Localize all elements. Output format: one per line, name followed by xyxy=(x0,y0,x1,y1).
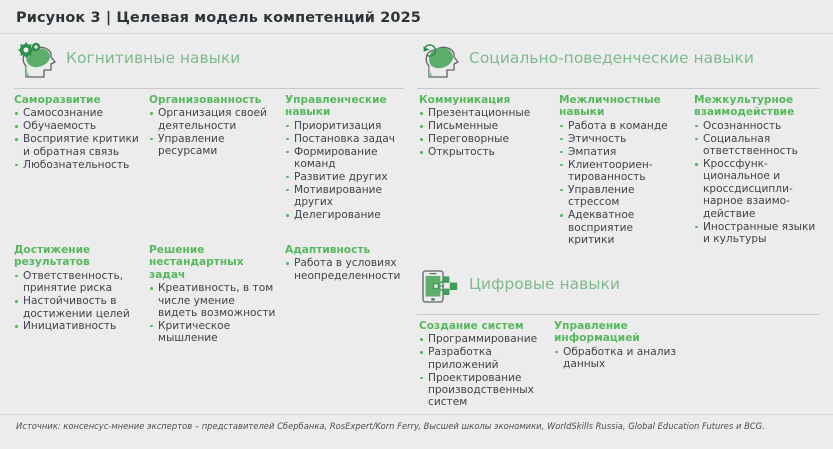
list-item: Настойчивость в достижении целей xyxy=(14,295,142,320)
column-list: Самосознание Обучаемость Восприятие крит… xyxy=(14,107,142,171)
block-divider-digital xyxy=(417,314,819,315)
column-mezhkulturnoe-vzaimodeystvie: Межкультурное взаимодействие Осознанност… xyxy=(694,94,820,246)
list-item: Критическое мышление xyxy=(149,320,277,345)
source-note: Источник: консенсус-мнение экспертов – п… xyxy=(16,421,765,431)
figure-canvas: Рисунок 3 | Целевая модель компетенций 2… xyxy=(0,0,833,449)
list-item: Управление ресурсами xyxy=(149,133,277,158)
column-list: Организация своей деятельности Управлени… xyxy=(149,107,277,157)
column-list: Приоритизация Постановка задач Формирова… xyxy=(285,120,403,222)
column-adaptivnost: Адаптивность Работа в условиях неопредел… xyxy=(285,244,403,283)
column-title: Адаптивность xyxy=(285,244,403,256)
list-item: Инициативность xyxy=(14,320,142,332)
footer-divider xyxy=(0,414,833,415)
column-title: Управленческие навыки xyxy=(285,94,403,119)
column-list: Осознанность Социальная ответственность … xyxy=(694,120,820,246)
list-item: Разработка приложений xyxy=(419,346,547,371)
list-item: Программирование xyxy=(419,333,547,345)
list-item: Развитие других xyxy=(285,171,403,183)
title-divider xyxy=(0,33,833,34)
column-list: Программирование Разработка приложений П… xyxy=(419,333,547,408)
list-item: Мотивирование других xyxy=(285,184,403,209)
list-item: Обработка и анализ данных xyxy=(554,346,676,371)
column-list: Работа в условиях неопределенности xyxy=(285,257,403,282)
list-item: Любознательность xyxy=(14,159,142,171)
column-list: Презентационные Письменные Переговорные … xyxy=(419,107,547,158)
column-list: Работа в команде Этичность Эмпатия Клиен… xyxy=(559,120,681,247)
list-item: Осознанность xyxy=(694,120,820,132)
list-item: Обучаемость xyxy=(14,120,142,132)
column-title: Достижение результатов xyxy=(14,244,142,269)
smartphone-network-icon xyxy=(417,266,463,306)
block-heading-label: Когнитивные навыки xyxy=(66,49,240,67)
column-reshenie-nestandartnyh-zadach: Решение нестандартных задач Креативность… xyxy=(149,244,277,345)
list-item: Социальная ответственность xyxy=(694,133,820,158)
list-item: Проектирование производственных систем xyxy=(419,372,547,409)
column-dostizhenie-rezultatov: Достижение результатов Ответственность, … xyxy=(14,244,142,333)
list-item: Ответственность, принятие риска xyxy=(14,270,142,295)
column-title: Решение нестандартных задач xyxy=(149,244,277,281)
column-list: Креативность, в том числе умение видеть … xyxy=(149,282,277,345)
column-upravlenie-informaciey: Управление информацией Обработка и анали… xyxy=(554,320,676,371)
column-mezhlichnostnye-navyki: Межличностные навыки Работа в команде Эт… xyxy=(559,94,681,247)
list-item: Креативность, в том числе умение видеть … xyxy=(149,282,277,319)
list-item: Формирование команд xyxy=(285,146,403,171)
block-heading-label: Цифровые навыки xyxy=(469,275,620,293)
list-item: Делегирование xyxy=(285,209,403,221)
block-header-social: Социально-поведенческие навыки xyxy=(417,40,819,82)
list-item: Иностранные языки и культуры xyxy=(694,221,820,246)
column-title: Управление информацией xyxy=(554,320,676,345)
column-title: Создание систем xyxy=(419,320,547,332)
block-divider-cognitive xyxy=(14,88,404,89)
column-samorazvitie: Саморазвитие Самосознание Обучаемость Во… xyxy=(14,94,142,171)
list-item: Презентационные xyxy=(419,107,547,119)
head-with-arrows-icon xyxy=(417,40,463,80)
list-item: Этичность xyxy=(559,133,681,145)
column-title: Организованность xyxy=(149,94,277,106)
list-item: Приоритизация xyxy=(285,120,403,132)
list-item: Адекватное восприятие критики xyxy=(559,209,681,246)
list-item: Работа в команде xyxy=(559,120,681,132)
column-title: Межкультурное взаимодействие xyxy=(694,94,820,119)
block-header-cognitive: Когнитивные навыки xyxy=(14,40,404,82)
list-item: Постановка задач xyxy=(285,133,403,145)
list-item: Письменные xyxy=(419,120,547,132)
column-title: Коммуникация xyxy=(419,94,547,106)
column-list: Ответственность, принятие риска Настойчи… xyxy=(14,270,142,333)
list-item: Клиентоориен-тированность xyxy=(559,159,681,184)
list-item: Самосознание xyxy=(14,107,142,119)
list-item: Управление стрессом xyxy=(559,184,681,209)
block-divider-social xyxy=(417,88,819,89)
column-kommunikaciya: Коммуникация Презентационные Письменные … xyxy=(419,94,547,159)
column-title: Саморазвитие xyxy=(14,94,142,106)
column-organizovannost: Организованность Организация своей деяте… xyxy=(149,94,277,158)
column-sozdanie-sistem: Создание систем Программирование Разрабо… xyxy=(419,320,547,409)
list-item: Переговорные xyxy=(419,133,547,145)
column-upravlencheskie: Управленческие навыки Приоритизация Пост… xyxy=(285,94,403,222)
list-item: Работа в условиях неопределенности xyxy=(285,257,403,282)
list-item: Восприятие критики и обратная связь xyxy=(14,133,142,158)
list-item: Организация своей деятельности xyxy=(149,107,277,132)
list-item: Эмпатия xyxy=(559,146,681,158)
list-item: Кроссфунк-циональное и кроссдисципли-нар… xyxy=(694,158,820,220)
column-title: Межличностные навыки xyxy=(559,94,681,119)
column-list: Обработка и анализ данных xyxy=(554,346,676,371)
block-heading-label: Социально-поведенческие навыки xyxy=(469,49,754,67)
list-item: Открытость xyxy=(419,146,547,158)
figure-title: Рисунок 3 | Целевая модель компетенций 2… xyxy=(16,10,421,26)
block-header-digital: Цифровые навыки xyxy=(417,266,819,308)
head-with-gears-icon xyxy=(14,40,60,80)
